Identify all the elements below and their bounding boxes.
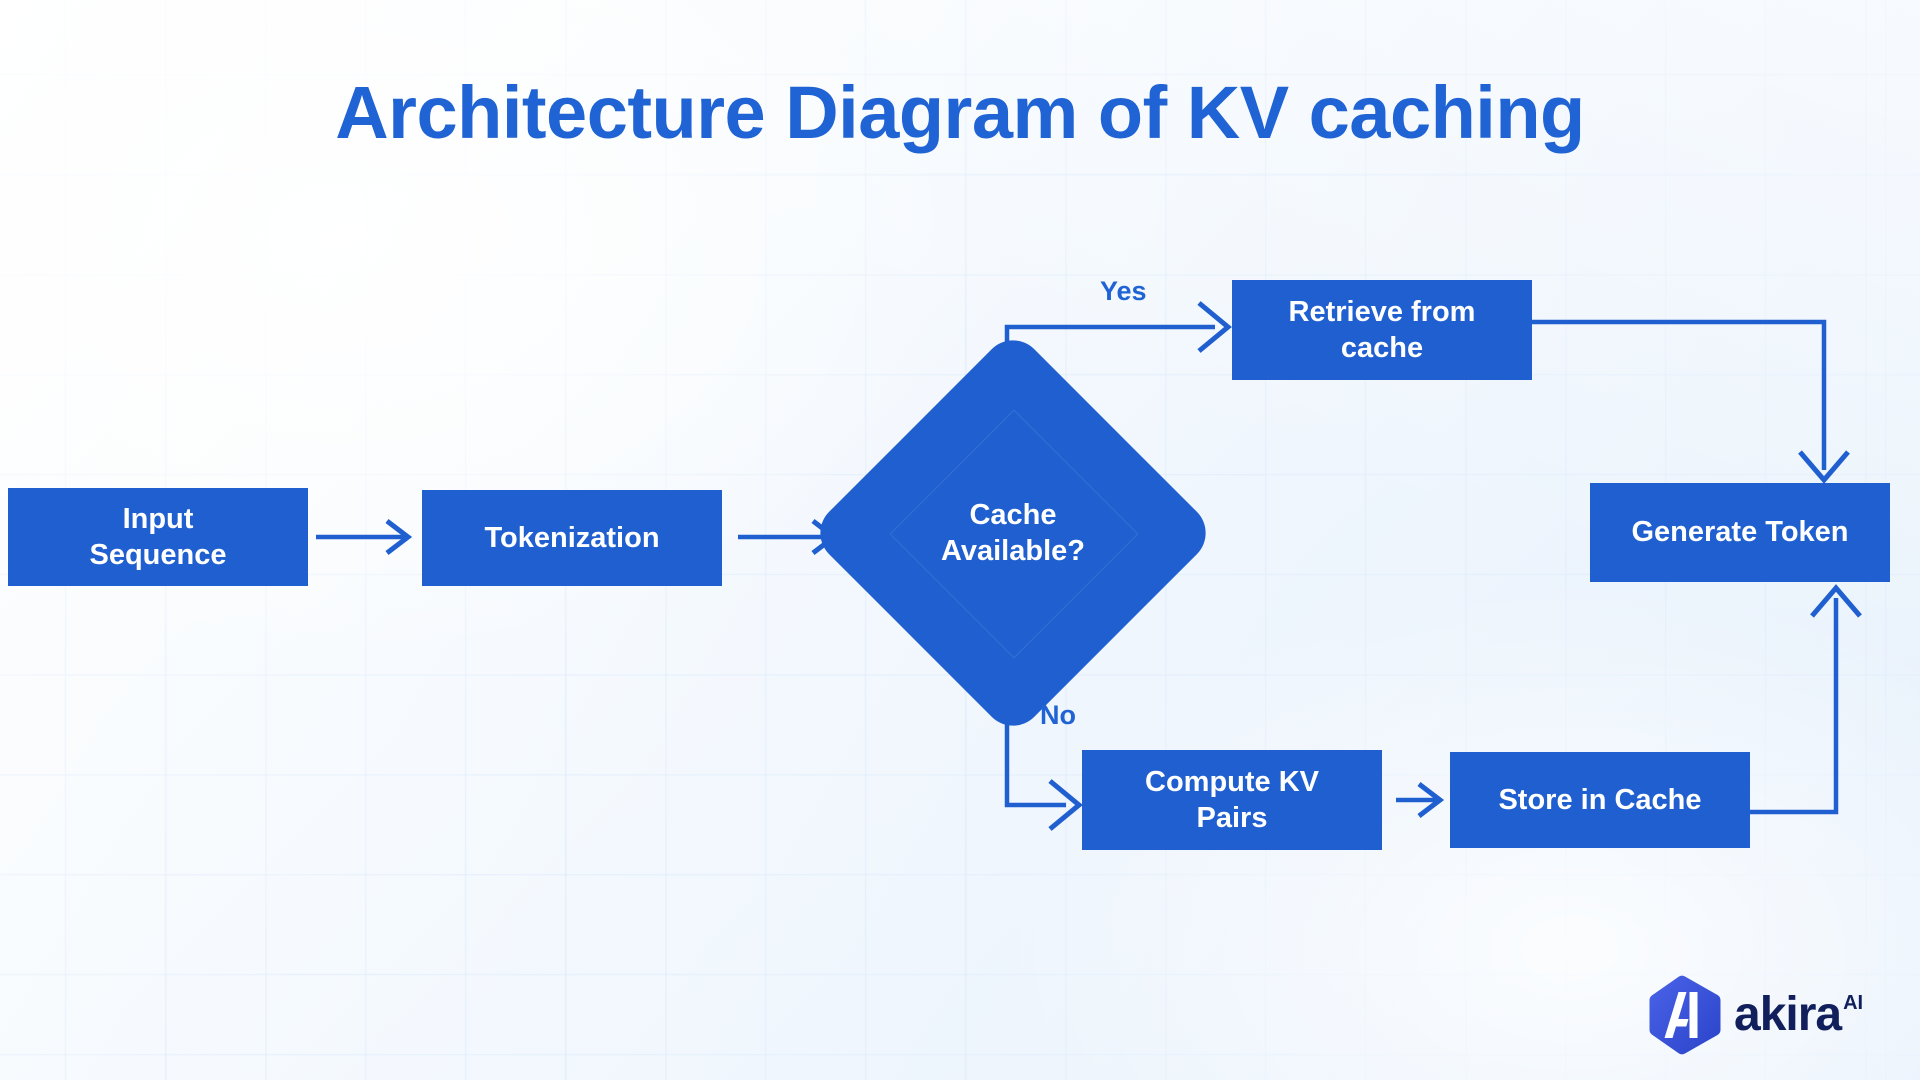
node-compute-kv-pairs[interactable]: Compute KV Pairs <box>1082 750 1382 850</box>
node-input-sequence[interactable]: Input Sequence <box>8 488 308 586</box>
edge-label-no: No <box>1040 700 1076 731</box>
node-retrieve-from-cache[interactable]: Retrieve from cache <box>1232 280 1532 380</box>
node-cache-available-decision[interactable]: Cache Available? <box>868 388 1158 678</box>
diagram-canvas: Architecture Diagram of KV caching <box>0 0 1920 1080</box>
node-tokenization[interactable]: Tokenization <box>422 490 722 586</box>
node-generate-token[interactable]: Generate Token <box>1590 483 1890 582</box>
akira-wordmark: akira AI <box>1734 991 1863 1039</box>
logo-superscript: AI <box>1843 993 1863 1013</box>
akira-ai-logo[interactable]: akira AI <box>1648 975 1863 1055</box>
node-cache-available-label: Cache Available? <box>868 388 1158 678</box>
edge-label-yes: Yes <box>1100 276 1147 307</box>
logo-word: akira <box>1734 991 1841 1039</box>
edge-compute-to-store <box>1396 784 1440 816</box>
edge-store-to-generate <box>1750 588 1860 812</box>
edge-retrieve-to-generate <box>1532 322 1848 480</box>
edge-input-to-tokenization <box>316 521 408 553</box>
akira-hexagon-icon <box>1648 975 1722 1055</box>
node-store-in-cache[interactable]: Store in Cache <box>1450 752 1750 848</box>
